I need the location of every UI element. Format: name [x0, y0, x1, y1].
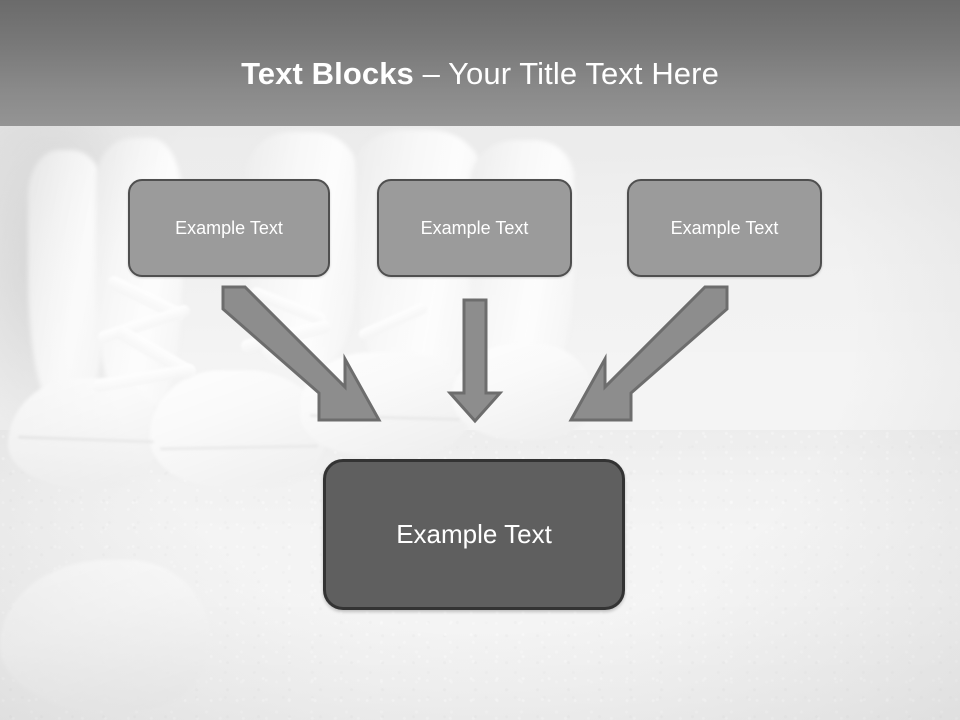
page-title-strong: Text Blocks — [241, 56, 414, 91]
page-title-separator: – — [414, 56, 448, 91]
text-block-result[interactable]: Example Text — [323, 459, 625, 610]
text-block-3[interactable]: Example Text — [627, 179, 822, 277]
text-block-3-label: Example Text — [671, 218, 779, 239]
page-title-rest: Your Title Text Here — [448, 56, 719, 91]
page-title: Text Blocks – Your Title Text Here — [0, 54, 960, 94]
text-block-1[interactable]: Example Text — [128, 179, 330, 277]
text-block-2[interactable]: Example Text — [377, 179, 572, 277]
slide-canvas: Text Blocks – Your Title Text Here Examp… — [0, 0, 960, 720]
text-block-1-label: Example Text — [175, 218, 283, 239]
text-block-result-label: Example Text — [396, 519, 552, 550]
title-band: Text Blocks – Your Title Text Here — [0, 0, 960, 126]
text-block-2-label: Example Text — [421, 218, 529, 239]
